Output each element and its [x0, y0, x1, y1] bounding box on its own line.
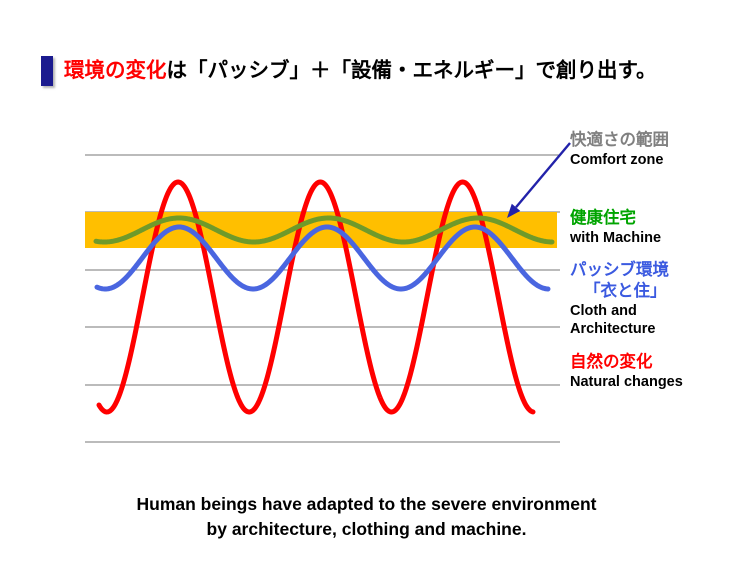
chart-gridlines — [85, 155, 560, 442]
legend-comfort-ja: 快適さの範囲 — [570, 130, 733, 151]
legend-item-comfort-zone: 快適さの範囲 Comfort zone — [570, 130, 733, 169]
caption-line-2: by architecture, clothing and machine. — [0, 517, 733, 542]
legend-machine-ja: 健康住宅 — [570, 208, 733, 229]
legend-item-with-machine: 健康住宅 with Machine — [570, 208, 733, 247]
legend-passive-ja-line2: 「衣と住」 — [570, 281, 733, 302]
legend-machine-en: with Machine — [570, 229, 733, 247]
legend-natural-en: Natural changes — [570, 373, 733, 391]
legend-comfort-en: Comfort zone — [570, 151, 733, 169]
legend-passive-ja-line1: パッシブ環境 — [570, 260, 733, 281]
slide-canvas: 環境の変化は「パッシブ」＋「設備・エネルギー」で創り出す。 快適さの範囲 Com… — [0, 0, 733, 578]
legend-item-natural-changes: 自然の変化 Natural changes — [570, 352, 733, 391]
legend-passive-en-line2: Architecture — [570, 320, 733, 338]
caption-line-1: Human beings have adapted to the severe … — [0, 492, 733, 517]
legend-passive-en-line1: Cloth and — [570, 302, 733, 320]
legend-natural-ja: 自然の変化 — [570, 352, 733, 373]
comfort-zone-arrow — [507, 143, 570, 218]
arrow-shaft — [516, 143, 570, 207]
slide-caption: Human beings have adapted to the severe … — [0, 492, 733, 542]
legend-item-passive: パッシブ環境 「衣と住」 Cloth and Architecture — [570, 260, 733, 338]
